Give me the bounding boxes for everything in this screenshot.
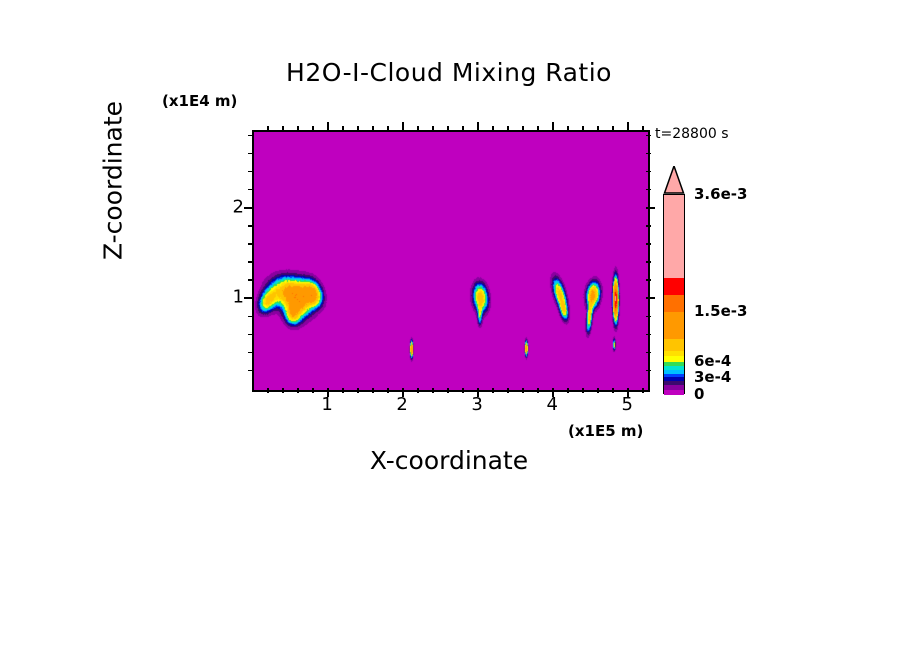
axis-tick bbox=[646, 297, 655, 299]
axis-tick bbox=[248, 243, 253, 245]
axis-tick bbox=[248, 225, 253, 227]
timestamp-annotation: t=28800 s bbox=[655, 126, 729, 142]
colorbar-tick-label: 6e-4 bbox=[694, 352, 731, 370]
axis-tick bbox=[357, 388, 359, 393]
axis-tick bbox=[492, 388, 494, 393]
axis-tick bbox=[267, 388, 269, 393]
axis-tick bbox=[387, 388, 389, 393]
contour-field-canvas bbox=[254, 132, 648, 390]
axis-tick bbox=[646, 135, 651, 137]
axis-tick bbox=[387, 126, 389, 131]
axis-tick bbox=[432, 126, 434, 131]
axis-tick bbox=[646, 243, 651, 245]
axis-tick bbox=[567, 388, 569, 393]
axis-tick bbox=[248, 279, 253, 281]
axis-tick bbox=[417, 388, 419, 393]
axis-tick bbox=[297, 126, 299, 131]
colorbar-band bbox=[664, 339, 684, 350]
colorbar-tick-label: 3.6e-3 bbox=[694, 185, 747, 203]
axis-tick bbox=[642, 388, 644, 393]
axis-tick bbox=[248, 334, 253, 336]
axis-tick bbox=[537, 388, 539, 393]
axis-tick bbox=[612, 388, 614, 393]
axis-tick bbox=[646, 225, 651, 227]
axis-tick bbox=[477, 122, 479, 131]
axis-tick bbox=[342, 388, 344, 393]
axis-tick bbox=[447, 388, 449, 393]
x-tick-label: 2 bbox=[396, 394, 407, 415]
axis-tick bbox=[642, 126, 644, 131]
y-tick-label: 2 bbox=[214, 196, 244, 217]
colorbar-tick-label: 3e-4 bbox=[694, 368, 731, 386]
axis-tick bbox=[248, 153, 253, 155]
colorbar-tick-label: 1.5e-3 bbox=[694, 302, 747, 320]
axis-tick bbox=[462, 388, 464, 393]
colorbar-band bbox=[664, 390, 684, 395]
axis-tick bbox=[248, 352, 253, 354]
axis-tick bbox=[248, 261, 253, 263]
axis-tick bbox=[248, 135, 253, 137]
axis-tick bbox=[282, 126, 284, 131]
y-axis-multiplier-label: (x1E4 m) bbox=[162, 92, 237, 110]
colorbar-band bbox=[664, 295, 684, 312]
axis-tick bbox=[492, 126, 494, 131]
colorbar-tick-label: 0 bbox=[694, 385, 704, 403]
axis-tick bbox=[312, 388, 314, 393]
axis-tick bbox=[646, 316, 651, 318]
axis-tick bbox=[297, 388, 299, 393]
axis-tick bbox=[597, 388, 599, 393]
axis-tick bbox=[507, 388, 509, 393]
axis-tick bbox=[327, 122, 329, 131]
axis-tick bbox=[646, 370, 651, 372]
x-tick-label: 3 bbox=[471, 394, 482, 415]
axis-tick bbox=[597, 126, 599, 131]
colorbar bbox=[663, 194, 685, 394]
axis-tick bbox=[248, 189, 253, 191]
y-axis-title: Z-coordinate bbox=[99, 51, 128, 311]
axis-tick bbox=[646, 261, 651, 263]
axis-tick bbox=[417, 126, 419, 131]
y-tick-label: 1 bbox=[214, 287, 244, 308]
axis-tick bbox=[357, 126, 359, 131]
axis-tick bbox=[248, 370, 253, 372]
axis-tick bbox=[646, 279, 651, 281]
axis-tick bbox=[312, 126, 314, 131]
axis-tick bbox=[627, 122, 629, 131]
page-title: H2O-I-Cloud Mixing Ratio bbox=[252, 58, 646, 87]
axis-tick bbox=[646, 207, 655, 209]
axis-tick bbox=[244, 207, 253, 209]
axis-tick bbox=[582, 126, 584, 131]
axis-tick bbox=[612, 126, 614, 131]
axis-tick bbox=[282, 388, 284, 393]
axis-tick bbox=[537, 126, 539, 131]
x-tick-label: 4 bbox=[546, 394, 557, 415]
axis-tick bbox=[646, 189, 651, 191]
axis-tick bbox=[567, 126, 569, 131]
axis-tick bbox=[432, 388, 434, 393]
axis-tick bbox=[646, 171, 651, 173]
chart-container: H2O-I-Cloud Mixing Ratio (x1E4 m) t=2880… bbox=[0, 0, 904, 654]
colorbar-band bbox=[664, 195, 684, 278]
axis-tick bbox=[507, 126, 509, 131]
axis-tick bbox=[248, 171, 253, 173]
axis-tick bbox=[522, 388, 524, 393]
colorbar-band bbox=[664, 312, 684, 340]
x-axis-title: X-coordinate bbox=[252, 446, 646, 475]
colorbar-arrow-icon bbox=[663, 166, 685, 194]
plot-area bbox=[252, 130, 650, 392]
axis-tick bbox=[462, 126, 464, 131]
x-tick-label: 5 bbox=[622, 394, 633, 415]
colorbar-band bbox=[664, 278, 684, 295]
axis-tick bbox=[267, 126, 269, 131]
axis-tick bbox=[447, 126, 449, 131]
axis-tick bbox=[552, 122, 554, 131]
x-tick-label: 1 bbox=[321, 394, 332, 415]
axis-tick bbox=[372, 126, 374, 131]
axis-tick bbox=[342, 126, 344, 131]
axis-tick bbox=[402, 122, 404, 131]
axis-tick bbox=[244, 297, 253, 299]
x-axis-multiplier-label: (x1E5 m) bbox=[568, 422, 643, 440]
axis-tick bbox=[522, 126, 524, 131]
axis-tick bbox=[248, 316, 253, 318]
axis-tick bbox=[646, 153, 651, 155]
axis-tick bbox=[646, 334, 651, 336]
axis-tick bbox=[646, 352, 651, 354]
axis-tick bbox=[372, 388, 374, 393]
axis-tick bbox=[582, 388, 584, 393]
